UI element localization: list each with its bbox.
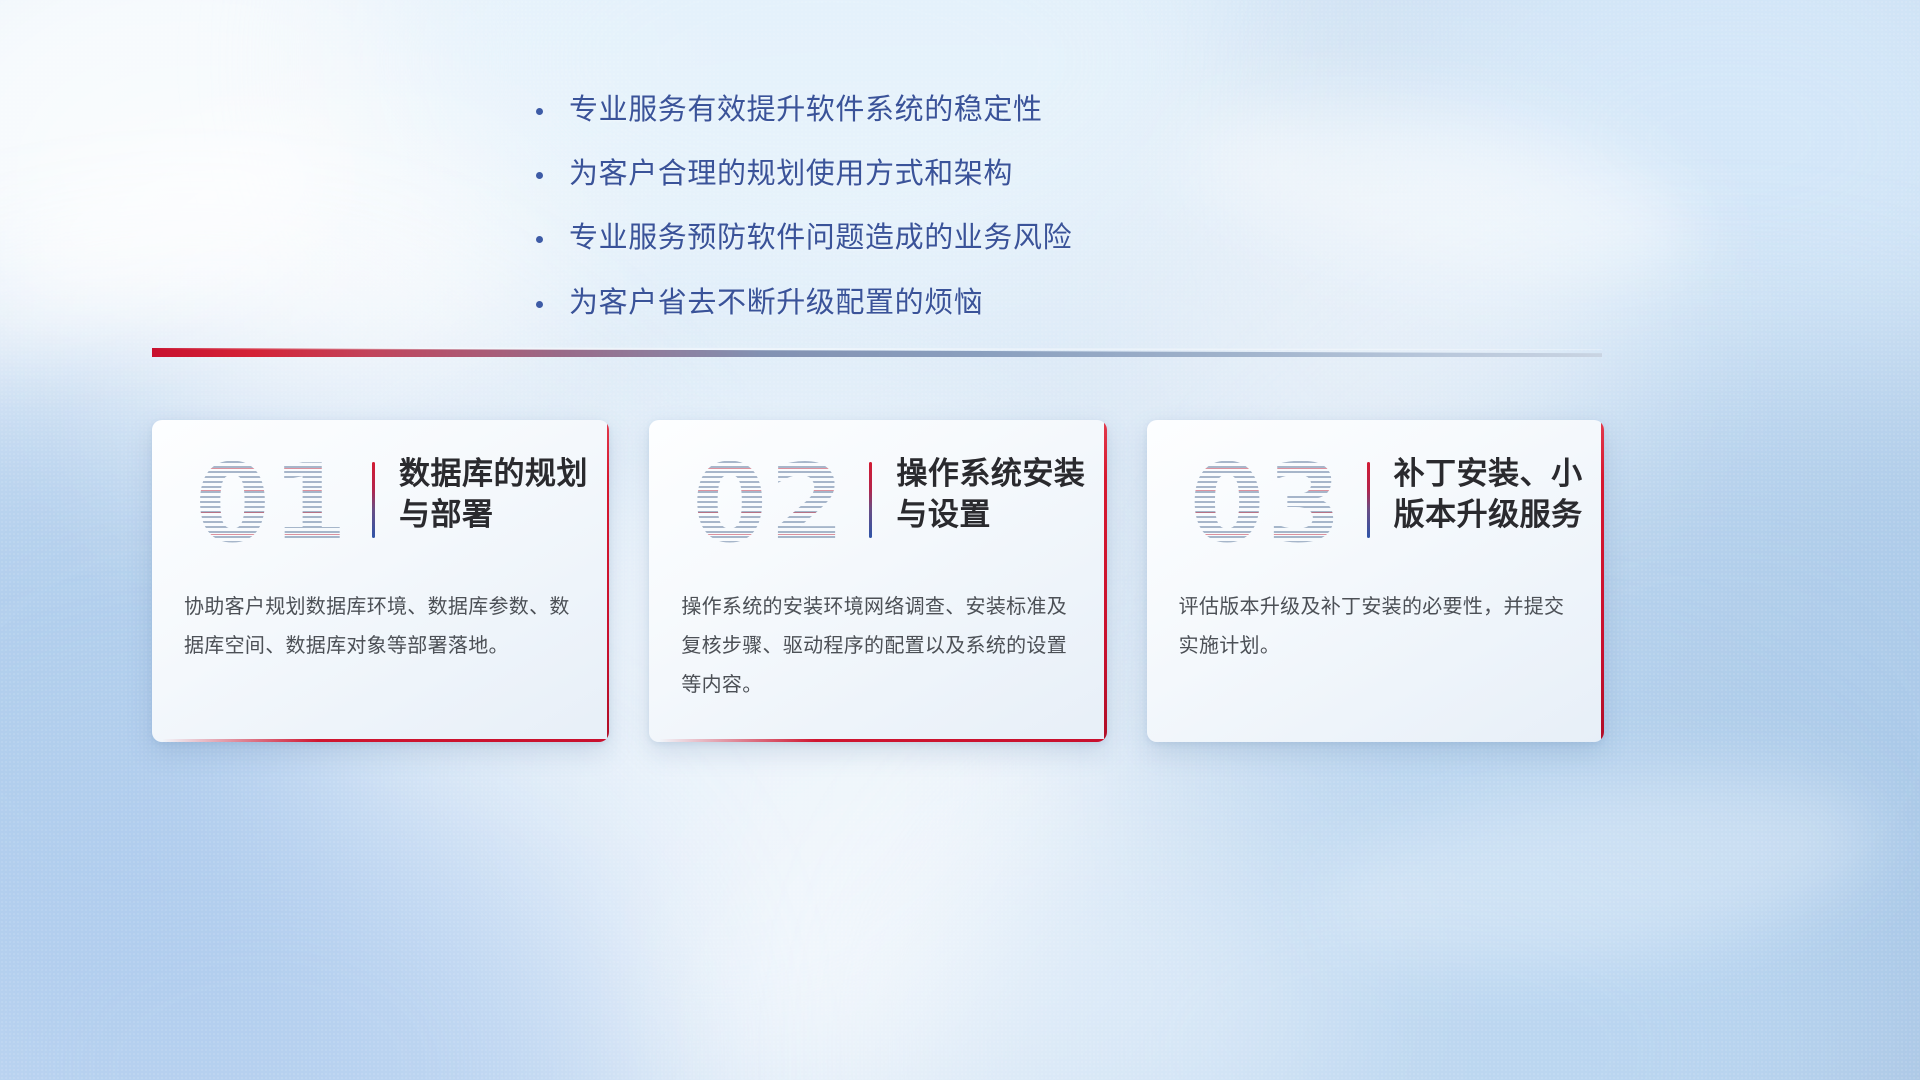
card-title: 数据库的规划与部署 [399, 454, 609, 536]
bullet-dot-icon [536, 236, 543, 243]
card-body-text: 协助客户规划数据库环境、数据库参数、数据库空间、数据库对象等部署落地。 [184, 588, 577, 666]
benefits-bullet-list: 专业服务有效提升软件系统的稳定性 为客户合理的规划使用方式和架构 专业服务预防软… [536, 90, 1176, 347]
bullet-dot-icon [536, 301, 543, 308]
card-number-watermark: 02 [677, 446, 861, 564]
list-item: 专业服务预防软件问题造成的业务风险 [536, 218, 1176, 259]
list-item: 专业服务有效提升软件系统的稳定性 [536, 90, 1176, 131]
list-item: 为客户省去不断升级配置的烦恼 [536, 283, 1176, 324]
card-title-block: 补丁安装、小版本升级服务 [1367, 454, 1604, 538]
card-body-text: 评估版本升级及补丁安装的必要性，并提交实施计划。 [1179, 588, 1572, 666]
card-body-text: 操作系统的安装环境网络调查、安装标准及复核步骤、驱动程序的配置以及系统的设置等内… [681, 588, 1074, 705]
card-title: 操作系统安装与设置 [896, 454, 1106, 536]
service-card-02[interactable]: 02 02 操作系统安装与设置 操作系统的安装环境网络调查、安装标准及复核步骤、… [649, 420, 1106, 742]
bullet-dot-icon [536, 108, 543, 115]
card-number-watermark: 03 [1175, 446, 1359, 564]
card-accent-bar-icon [869, 462, 872, 538]
list-item-label: 为客户合理的规划使用方式和架构 [569, 154, 1013, 195]
service-card-grid: 01 01 数据库的规划与部署 协助客户规划数据库环境、数据库参数、数据库空间、… [152, 420, 1604, 742]
list-item-label: 为客户省去不断升级配置的烦恼 [569, 283, 983, 324]
section-divider [152, 345, 1602, 361]
card-accent-bar-icon [1367, 462, 1370, 538]
service-card-01[interactable]: 01 01 数据库的规划与部署 协助客户规划数据库环境、数据库参数、数据库空间、… [152, 420, 609, 742]
card-title-block: 操作系统安装与设置 [869, 454, 1106, 538]
card-accent-bar-icon [372, 462, 375, 538]
card-title-block: 数据库的规划与部署 [372, 454, 609, 538]
list-item-label: 专业服务有效提升软件系统的稳定性 [569, 90, 1043, 131]
list-item-label: 专业服务预防软件问题造成的业务风险 [569, 218, 1072, 259]
card-title: 补丁安装、小版本升级服务 [1394, 454, 1604, 536]
list-item: 为客户合理的规划使用方式和架构 [536, 154, 1176, 195]
bullet-dot-icon [536, 172, 543, 179]
section-divider-highlight [152, 347, 1602, 350]
service-card-03[interactable]: 03 03 补丁安装、小版本升级服务 评估版本升级及补丁安装的必要性，并提交实施… [1147, 420, 1604, 742]
card-number-watermark: 01 [180, 446, 364, 564]
